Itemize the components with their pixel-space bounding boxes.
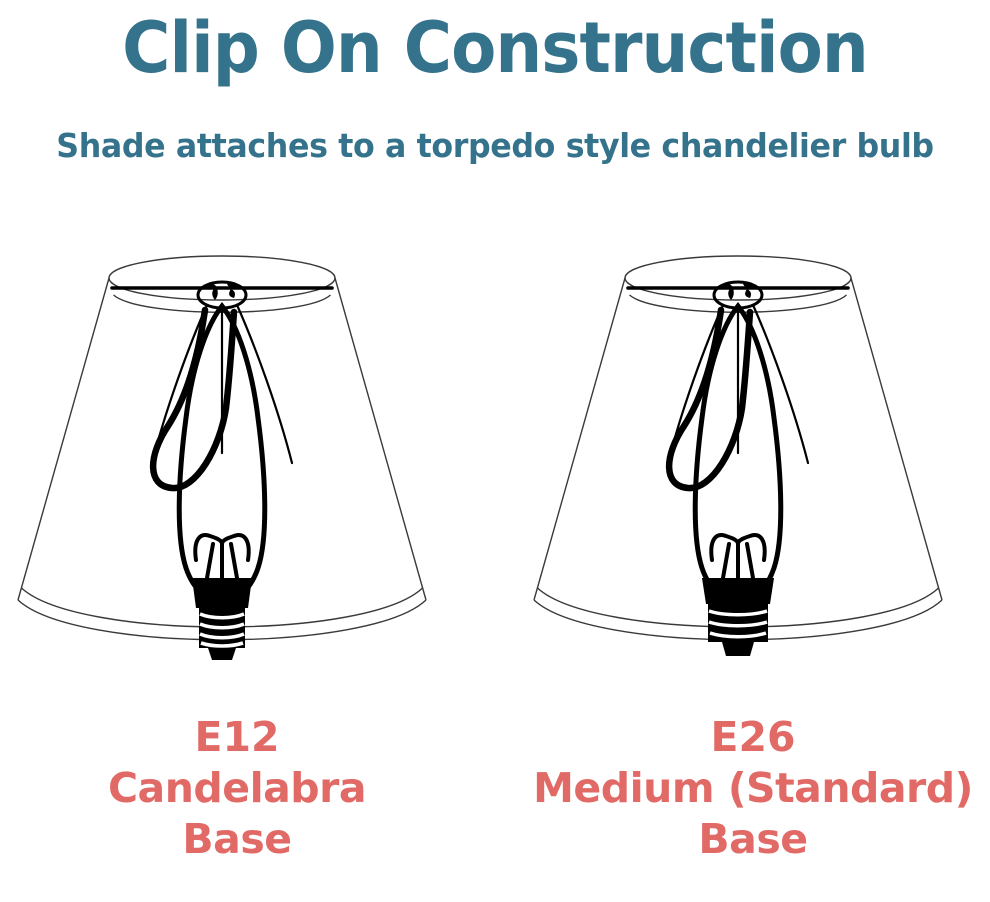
page-title: Clip On Construction: [30, 8, 961, 88]
caption-e12: E12 Candelabra Base: [0, 712, 474, 865]
poster-canvas: Clip On Construction Shade attaches to a…: [0, 0, 990, 902]
bulb-base-e26: [702, 578, 774, 656]
clip-collar-notch-inner: [745, 289, 751, 298]
caption-e12-line-1: E12: [0, 712, 474, 763]
clip-collar-notch-inner: [229, 289, 235, 298]
caption-e26: E26 Medium (Standard) Base: [516, 712, 990, 865]
bulb-base-e12: [192, 578, 252, 660]
bulb-base-foot-contact: [722, 642, 754, 656]
bulb-base-foot-contact: [208, 648, 236, 660]
bulb-base-screw-threads: [199, 608, 245, 648]
caption-e26-line-3: Base: [516, 814, 990, 865]
caption-e26-line-1: E26: [516, 712, 990, 763]
lampshade-e12-illustration: [0, 248, 474, 668]
lampshade-e26-illustration: [516, 248, 990, 668]
bulb-base-collar: [702, 578, 774, 604]
figure-e26: [516, 248, 990, 668]
caption-e12-line-2: Candelabra: [0, 763, 474, 814]
shade-left-side: [534, 278, 625, 600]
caption-e12-line-3: Base: [0, 814, 474, 865]
page-subtitle: Shade attaches to a torpedo style chande…: [20, 126, 970, 166]
shade-top-rim-ellipse: [625, 256, 851, 300]
shade-right-side: [851, 278, 942, 600]
caption-e26-line-2: Medium (Standard): [516, 763, 990, 814]
shade-left-side: [18, 278, 109, 600]
shade-top-rim-ellipse: [109, 256, 335, 300]
bulb-base-screw-threads: [708, 604, 768, 642]
bulb-base-collar: [192, 578, 252, 608]
figure-e12: [0, 248, 474, 668]
shade-right-side: [335, 278, 426, 600]
